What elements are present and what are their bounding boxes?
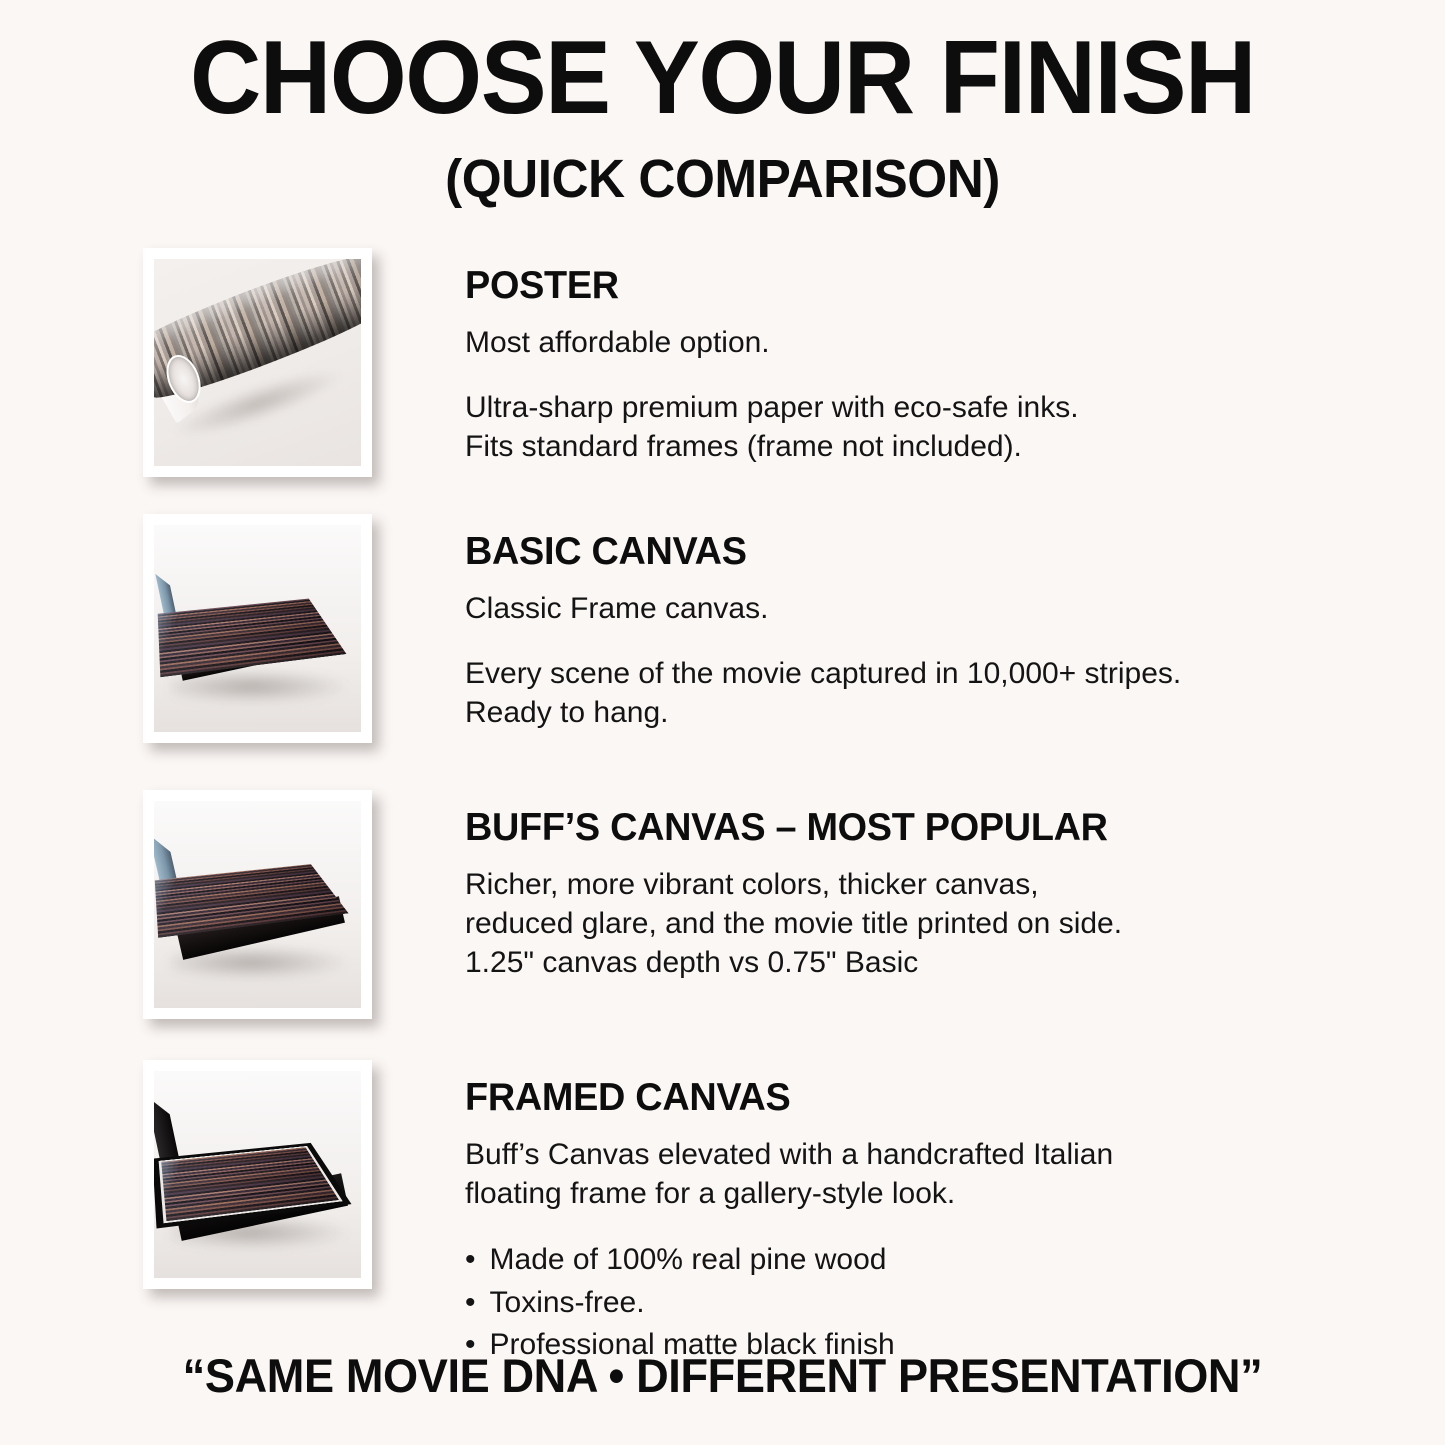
buffs-canvas-image-card bbox=[143, 790, 372, 1019]
buffs-canvas-detail-line-2: reduced glare, and the movie title print… bbox=[465, 904, 1128, 943]
page-header: CHOOSE YOUR FINISH (QUICK COMPARISON) bbox=[0, 0, 1445, 206]
buffs-canvas-detail-line-1: Richer, more vibrant colors, thicker can… bbox=[465, 865, 1128, 904]
poster-title: POSTER bbox=[465, 266, 1060, 307]
footer-tagline: “SAME MOVIE DNA • DIFFERENT PRESENTATION… bbox=[29, 1348, 1416, 1403]
buffs-canvas-detail-line-3: 1.25" canvas depth vs 0.75" Basic bbox=[465, 943, 1128, 982]
poster-detail-line-2: Fits standard frames (frame not included… bbox=[465, 427, 1079, 466]
framed-canvas-detail-line-2: floating frame for a gallery-style look. bbox=[465, 1174, 1113, 1213]
framed-canvas-image-card bbox=[143, 1060, 372, 1289]
finish-option-poster: POSTER Most affordable option. Ultra-sha… bbox=[0, 248, 1445, 477]
list-item: Made of 100% real pine wood bbox=[465, 1239, 1113, 1282]
basic-canvas-text-block: BASIC CANVAS Classic Frame canvas. Every… bbox=[465, 514, 1181, 732]
finish-option-basic-canvas: BASIC CANVAS Classic Frame canvas. Every… bbox=[0, 514, 1445, 743]
basic-canvas-image-card bbox=[143, 514, 372, 743]
basic-canvas-title: BASIC CANVAS bbox=[465, 532, 1160, 573]
basic-canvas-detail-line-2: Ready to hang. bbox=[465, 693, 1181, 732]
framed-canvas-image bbox=[154, 1071, 361, 1278]
list-item: Toxins-free. bbox=[465, 1282, 1113, 1325]
basic-canvas-tagline: Classic Frame canvas. bbox=[465, 589, 1181, 628]
buffs-canvas-title: BUFF’S CANVAS – MOST POPULAR bbox=[465, 808, 1108, 849]
buffs-canvas-image bbox=[154, 801, 361, 1008]
poster-image bbox=[154, 259, 361, 466]
framed-canvas-detail-line-1: Buff’s Canvas elevated with a handcrafte… bbox=[465, 1135, 1113, 1174]
basic-canvas-image bbox=[154, 525, 361, 732]
poster-detail-line-1: Ultra-sharp premium paper with eco-safe … bbox=[465, 388, 1079, 427]
poster-tagline: Most affordable option. bbox=[465, 323, 1079, 362]
page-subtitle: (QUICK COMPARISON) bbox=[36, 152, 1409, 206]
poster-image-card bbox=[143, 248, 372, 477]
finish-option-buffs-canvas: BUFF’S CANVAS – MOST POPULAR Richer, mor… bbox=[0, 790, 1445, 1019]
basic-canvas-detail-line-1: Every scene of the movie captured in 10,… bbox=[465, 654, 1181, 693]
finish-option-framed-canvas: FRAMED CANVAS Buff’s Canvas elevated wit… bbox=[0, 1060, 1445, 1367]
page-footer: “SAME MOVIE DNA • DIFFERENT PRESENTATION… bbox=[0, 1348, 1445, 1403]
poster-text-block: POSTER Most affordable option. Ultra-sha… bbox=[465, 248, 1079, 466]
framed-canvas-title: FRAMED CANVAS bbox=[465, 1078, 1094, 1119]
framed-canvas-text-block: FRAMED CANVAS Buff’s Canvas elevated wit… bbox=[465, 1060, 1113, 1367]
buffs-canvas-text-block: BUFF’S CANVAS – MOST POPULAR Richer, mor… bbox=[465, 790, 1128, 982]
page-title: CHOOSE YOUR FINISH bbox=[36, 26, 1409, 130]
